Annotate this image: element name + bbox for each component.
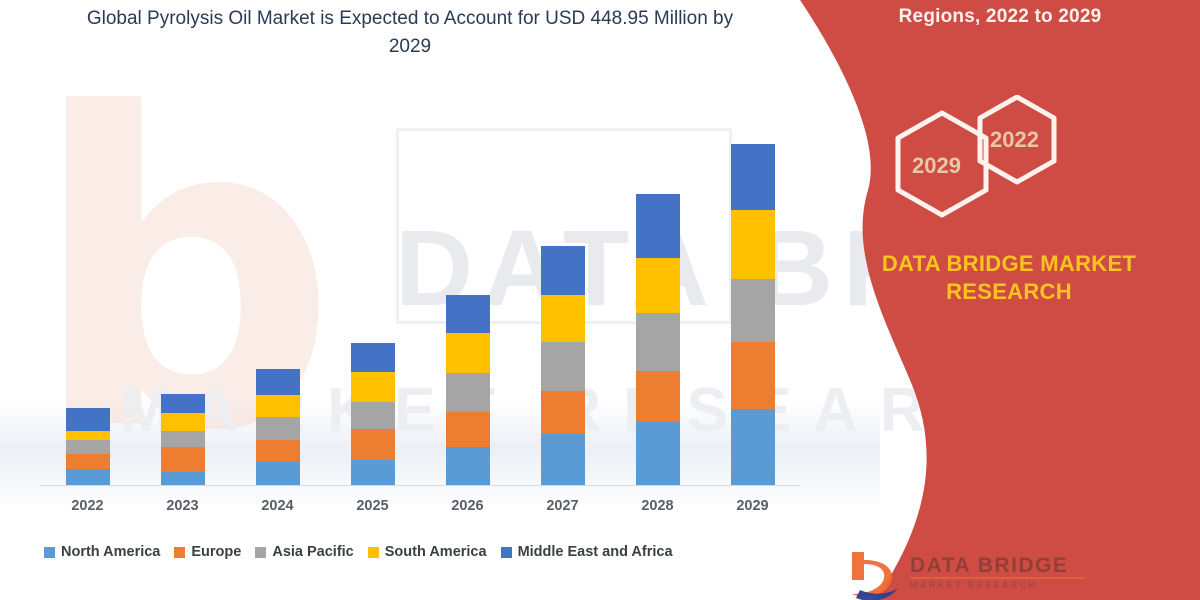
bar-segment-asia-pacific[interactable]	[731, 279, 775, 342]
bar-segment-europe[interactable]	[541, 391, 585, 434]
x-axis-label-2027: 2027	[518, 498, 608, 514]
bar-2027[interactable]	[541, 246, 585, 485]
legend-item-middle-east-and-africa[interactable]: Middle East and Africa	[501, 544, 673, 560]
bar-segment-europe[interactable]	[256, 440, 300, 462]
legend-label: Middle East and Africa	[518, 544, 673, 560]
brand-line-2: RESEARCH	[946, 279, 1072, 304]
bar-segment-asia-pacific[interactable]	[256, 417, 300, 440]
hexagon-pair: 2029 2022	[882, 95, 1112, 235]
bar-segment-europe[interactable]	[731, 342, 775, 409]
bar-segment-europe[interactable]	[161, 447, 205, 472]
legend-item-europe[interactable]: Europe	[174, 544, 241, 560]
x-axis-label-2028: 2028	[613, 498, 703, 514]
bar-segment-south-america[interactable]	[541, 295, 585, 342]
bar-segment-south-america[interactable]	[731, 210, 775, 279]
bar-2028[interactable]	[636, 194, 680, 485]
bar-segment-middle-east-and-africa[interactable]	[161, 394, 205, 413]
bar-segment-europe[interactable]	[636, 371, 680, 422]
bar-segment-north-america[interactable]	[66, 469, 110, 485]
bar-2022[interactable]	[66, 408, 110, 485]
hexagon-label-2022: 2022	[990, 127, 1039, 153]
legend-item-south-america[interactable]: South America	[368, 544, 487, 560]
footer-logo-text: DATA BRIDGE	[910, 554, 1068, 578]
bar-2026[interactable]	[446, 295, 490, 485]
x-axis-label-2024: 2024	[233, 498, 323, 514]
brand-name: DATA BRIDGE MARKET RESEARCH	[844, 250, 1174, 306]
footer-logo-subtext: MARKET RESEARCH	[910, 580, 1038, 590]
bar-segment-north-america[interactable]	[161, 472, 205, 485]
x-axis-label-2022: 2022	[43, 498, 133, 514]
footer-logo: DATA BRIDGE MARKET RESEARCH	[844, 548, 1174, 600]
bar-segment-middle-east-and-africa[interactable]	[636, 194, 680, 258]
bar-2025[interactable]	[351, 343, 395, 485]
bar-segment-middle-east-and-africa[interactable]	[446, 295, 490, 333]
bar-segment-north-america[interactable]	[351, 460, 395, 485]
legend-label: Europe	[191, 544, 241, 560]
bar-segment-middle-east-and-africa[interactable]	[541, 246, 585, 295]
bar-segment-north-america[interactable]	[731, 409, 775, 485]
bar-segment-south-america[interactable]	[256, 395, 300, 417]
bar-segment-north-america[interactable]	[256, 462, 300, 485]
stacked-bar-chart: 20222023202420252026202720282029 North A…	[0, 0, 820, 600]
bar-segment-asia-pacific[interactable]	[541, 342, 585, 391]
x-axis-label-2025: 2025	[328, 498, 418, 514]
bar-2024[interactable]	[256, 369, 300, 485]
bar-segment-asia-pacific[interactable]	[351, 402, 395, 429]
bar-segment-middle-east-and-africa[interactable]	[66, 408, 110, 431]
x-axis-line	[40, 485, 800, 486]
bar-segment-europe[interactable]	[351, 429, 395, 460]
legend-swatch-icon	[44, 547, 55, 558]
bar-segment-middle-east-and-africa[interactable]	[351, 343, 395, 372]
bar-2023[interactable]	[161, 394, 205, 485]
legend-swatch-icon	[255, 547, 266, 558]
footer-logo-mark-icon	[844, 550, 904, 600]
bar-2029[interactable]	[731, 144, 775, 485]
bar-segment-middle-east-and-africa[interactable]	[256, 369, 300, 395]
x-axis-labels: 20222023202420252026202720282029	[40, 498, 800, 522]
bar-segment-north-america[interactable]	[541, 434, 585, 485]
infographic-canvas: b DATA BRIDGE MARKET RESEARCH Global Pyr…	[0, 0, 1200, 600]
bar-segment-south-america[interactable]	[636, 258, 680, 313]
bar-segment-south-america[interactable]	[161, 413, 205, 431]
chart-legend: North AmericaEuropeAsia PacificSouth Ame…	[44, 540, 804, 564]
legend-item-asia-pacific[interactable]: Asia Pacific	[255, 544, 353, 560]
bar-segment-europe[interactable]	[446, 412, 490, 447]
x-axis-label-2026: 2026	[423, 498, 513, 514]
footer-logo-rule	[910, 577, 1085, 579]
bar-segment-asia-pacific[interactable]	[446, 373, 490, 412]
bar-segment-asia-pacific[interactable]	[161, 431, 205, 447]
legend-label: Asia Pacific	[272, 544, 353, 560]
bar-series-container	[40, 120, 800, 485]
bar-segment-europe[interactable]	[66, 454, 110, 469]
bar-segment-north-america[interactable]	[446, 447, 490, 485]
brand-line-1: DATA BRIDGE MARKET	[882, 251, 1136, 276]
bar-segment-asia-pacific[interactable]	[636, 313, 680, 371]
panel-title: Regions, 2022 to 2029	[800, 6, 1200, 28]
bar-segment-middle-east-and-africa[interactable]	[731, 144, 775, 210]
x-axis-label-2023: 2023	[138, 498, 228, 514]
legend-label: North America	[61, 544, 160, 560]
bar-segment-asia-pacific[interactable]	[66, 440, 110, 454]
bar-segment-south-america[interactable]	[66, 431, 110, 440]
hexagon-label-2029: 2029	[912, 153, 961, 179]
legend-label: South America	[385, 544, 487, 560]
bar-segment-south-america[interactable]	[446, 333, 490, 373]
bar-segment-north-america[interactable]	[636, 422, 680, 485]
legend-item-north-america[interactable]: North America	[44, 544, 160, 560]
legend-swatch-icon	[501, 547, 512, 558]
right-red-panel: Regions, 2022 to 2029 2029 2022 DATA BRI…	[780, 0, 1200, 600]
bar-segment-south-america[interactable]	[351, 372, 395, 402]
legend-swatch-icon	[174, 547, 185, 558]
legend-swatch-icon	[368, 547, 379, 558]
